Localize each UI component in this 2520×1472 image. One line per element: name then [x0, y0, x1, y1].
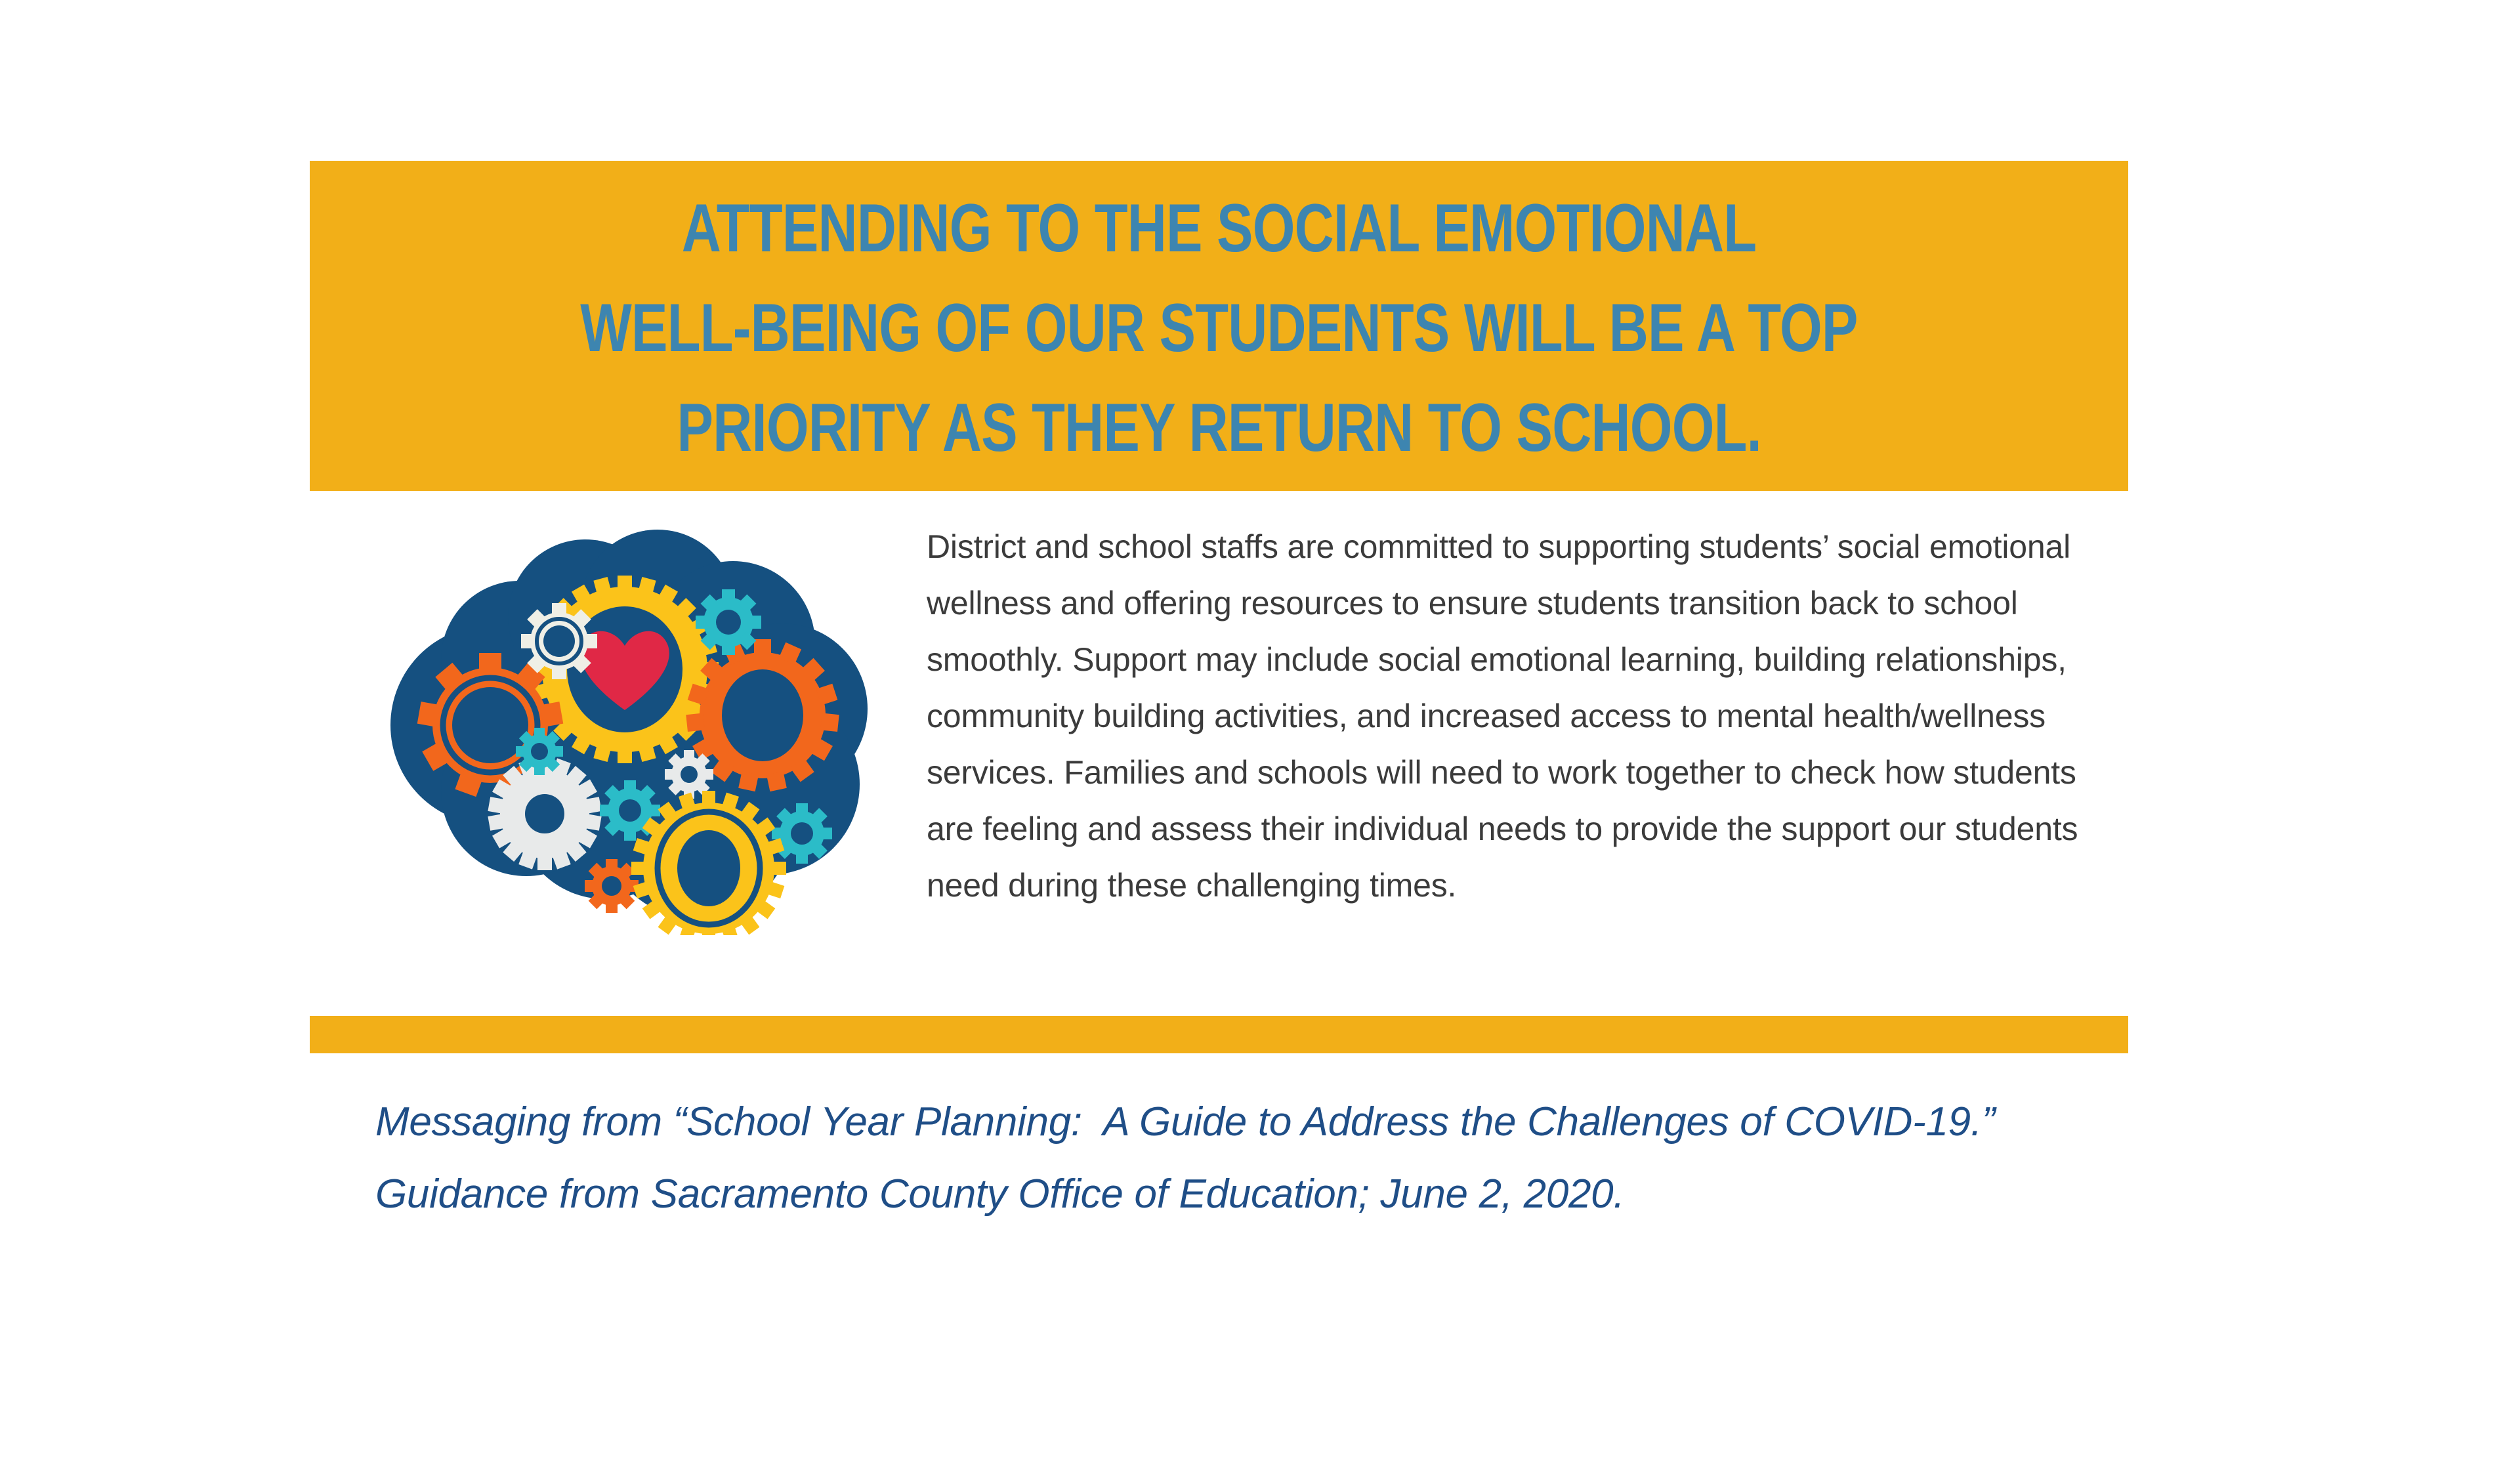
teal-gear-right — [772, 803, 832, 864]
divider-bar — [310, 1016, 2128, 1053]
cream-ring-gear — [521, 603, 597, 679]
brain-gears-heart-icon — [349, 528, 868, 935]
headline-banner: ATTENDING TO THE SOCIAL EMOTIONAL WELL-B… — [310, 161, 2128, 491]
content-row: District and school staffs are committed… — [310, 505, 2128, 965]
body-paragraph: District and school staffs are committed… — [927, 518, 2108, 914]
source-citation: Messaging from “School Year Planning: A … — [375, 1086, 2160, 1230]
orange-gear-small-bottom — [585, 859, 639, 913]
headline-line-1: ATTENDING TO THE SOCIAL EMOTIONAL — [682, 179, 1757, 278]
headline-line-3: PRIORITY AS THEY RETURN TO SCHOOL. — [677, 378, 1761, 478]
teal-gear-small-left — [516, 728, 563, 775]
headline-line-2: WELL-BEING OF OUR STUDENTS WILL BE A TOP — [580, 278, 1857, 378]
teal-gear-upper-right — [696, 589, 761, 655]
